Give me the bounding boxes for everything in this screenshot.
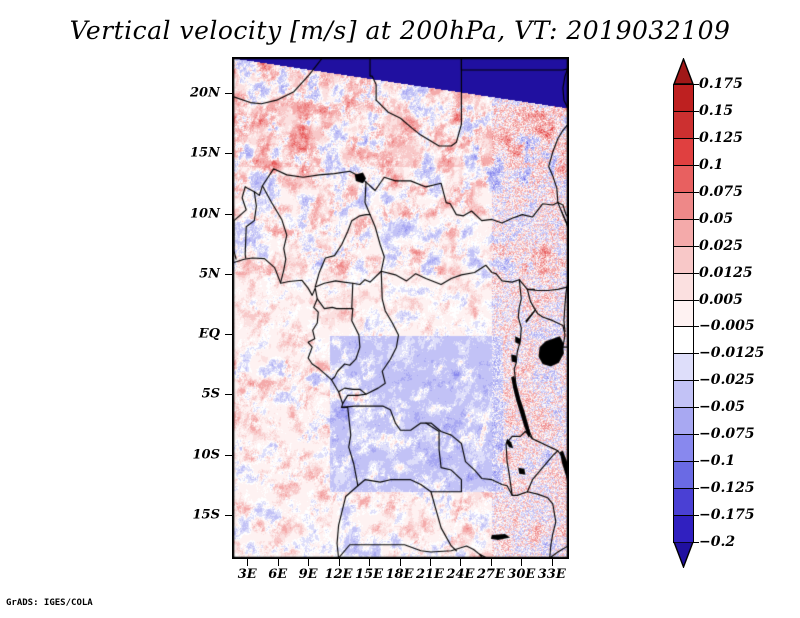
colorbar-tick-label: 0.0125 [699,265,753,281]
colorbar-tick-mark [694,84,699,85]
colorbar-band [673,84,694,112]
x-axis-tick-label: 24E [446,567,474,582]
x-axis-tick-label: 12E [325,567,353,582]
colorbar-band [673,353,694,381]
x-axis-tick-mark [247,559,248,566]
y-axis-tick-mark [225,334,232,335]
y-axis-tick-mark [225,153,232,154]
colorbar-tick-label: 0.025 [699,238,743,254]
x-axis-tick-mark [339,559,340,566]
x-axis-tick-mark [369,559,370,566]
y-axis-tick-mark [225,214,232,215]
grads-figure: Vertical velocity [m/s] at 200hPa, VT: 2… [0,0,800,618]
y-axis-tick-label: 15N [190,146,220,161]
x-axis-tick-label: 18E [386,567,414,582]
colorbar-tick-mark [694,219,699,220]
colorbar-tick-mark [694,300,699,301]
colorbar-tick-label: −0.025 [699,372,755,388]
colorbar-tick-mark [694,407,699,408]
y-axis-tick-mark [225,394,232,395]
colorbar-tick-mark [694,246,699,247]
colorbar-tick-mark [694,380,699,381]
colorbar-tick-label: 0.05 [699,211,733,227]
colorbar-tick-mark [694,515,699,516]
x-axis-tick-mark [400,559,401,566]
colorbar-band [673,380,694,408]
colorbar-tick-label: −0.005 [699,318,755,334]
x-axis-tick-mark [460,559,461,566]
colorbar-tick-label: 0.075 [699,184,743,200]
y-axis-tick-mark [225,515,232,516]
y-axis-tick-label: 10S [193,447,220,462]
colorbar-band [673,434,694,462]
colorbar-tick-mark [694,434,699,435]
colorbar-band [673,165,694,193]
country-borders-overlay [233,58,568,558]
colorbar-tick-mark [694,138,699,139]
y-axis-tick-label: 20N [190,86,220,101]
y-axis-tick-label: 5N [199,266,220,281]
colorbar-tick-label: −0.1 [699,453,735,469]
x-axis-tick-label: 9E [299,567,318,582]
x-axis-tick-label: 15E [355,567,383,582]
footer-credit: GrADS: IGES/COLA [6,598,93,608]
colorbar-tick-mark [694,488,699,489]
colorbar-band [673,407,694,435]
y-axis-tick-mark [225,455,232,456]
colorbar-tick-mark [694,192,699,193]
colorbar-band [673,461,694,489]
colorbar-band [673,246,694,274]
colorbar-tick-label: 0.175 [699,76,743,92]
colorbar-band [673,488,694,516]
colorbar-tick-mark [694,542,699,543]
colorbar-band [673,219,694,247]
colorbar-tick-label: −0.2 [699,534,735,550]
colorbar-band [673,138,694,166]
colorbar-tick-label: 0.15 [699,103,733,119]
colorbar-tick-mark [694,326,699,327]
y-axis-tick-label: 15S [193,507,220,522]
colorbar-tick-label: 0.1 [699,157,723,173]
colorbar-tick-label: 0.005 [699,292,743,308]
x-axis-tick-label: 30E [507,567,535,582]
x-axis-tick-mark [278,559,279,566]
colorbar-tick-mark [694,273,699,274]
x-axis-tick-label: 27E [477,567,505,582]
colorbar-tick-label: −0.175 [699,507,755,523]
page-title: Vertical velocity [m/s] at 200hPa, VT: 2… [0,16,800,45]
colorbar-band [673,515,694,543]
x-axis-tick-label: 3E [238,567,257,582]
x-axis-tick-mark [552,559,553,566]
colorbar-band [673,111,694,139]
x-axis-tick-mark [430,559,431,566]
colorbar-tick-mark [694,353,699,354]
colorbar-tick-label: −0.0125 [699,345,764,361]
x-axis-tick-mark [491,559,492,566]
colorbar-band [673,192,694,220]
colorbar-tick-label: −0.125 [699,480,755,496]
colorbar-band [673,300,694,328]
y-axis-tick-mark [225,93,232,94]
colorbar[interactable]: 0.1750.150.1250.10.0750.050.0250.01250.0… [673,58,694,568]
colorbar-bottom-arrow [673,542,694,568]
y-axis-tick-mark [225,274,232,275]
colorbar-tick-mark [694,461,699,462]
y-axis-tick-label: EQ [199,327,220,342]
map-plot-area[interactable] [232,57,569,559]
x-axis-tick-mark [521,559,522,566]
colorbar-tick-mark [694,165,699,166]
colorbar-top-arrow [673,58,694,84]
colorbar-tick-label: −0.05 [699,399,745,415]
y-axis-tick-label: 5S [202,387,220,402]
x-axis-tick-mark [308,559,309,566]
colorbar-tick-label: −0.075 [699,426,755,442]
x-axis-tick-label: 33E [538,567,566,582]
colorbar-tick-mark [694,111,699,112]
y-axis-tick-label: 10N [190,206,220,221]
colorbar-band [673,326,694,354]
x-axis-tick-label: 21E [416,567,444,582]
x-axis-tick-label: 6E [268,567,287,582]
colorbar-tick-label: 0.125 [699,130,743,146]
colorbar-band [673,273,694,301]
